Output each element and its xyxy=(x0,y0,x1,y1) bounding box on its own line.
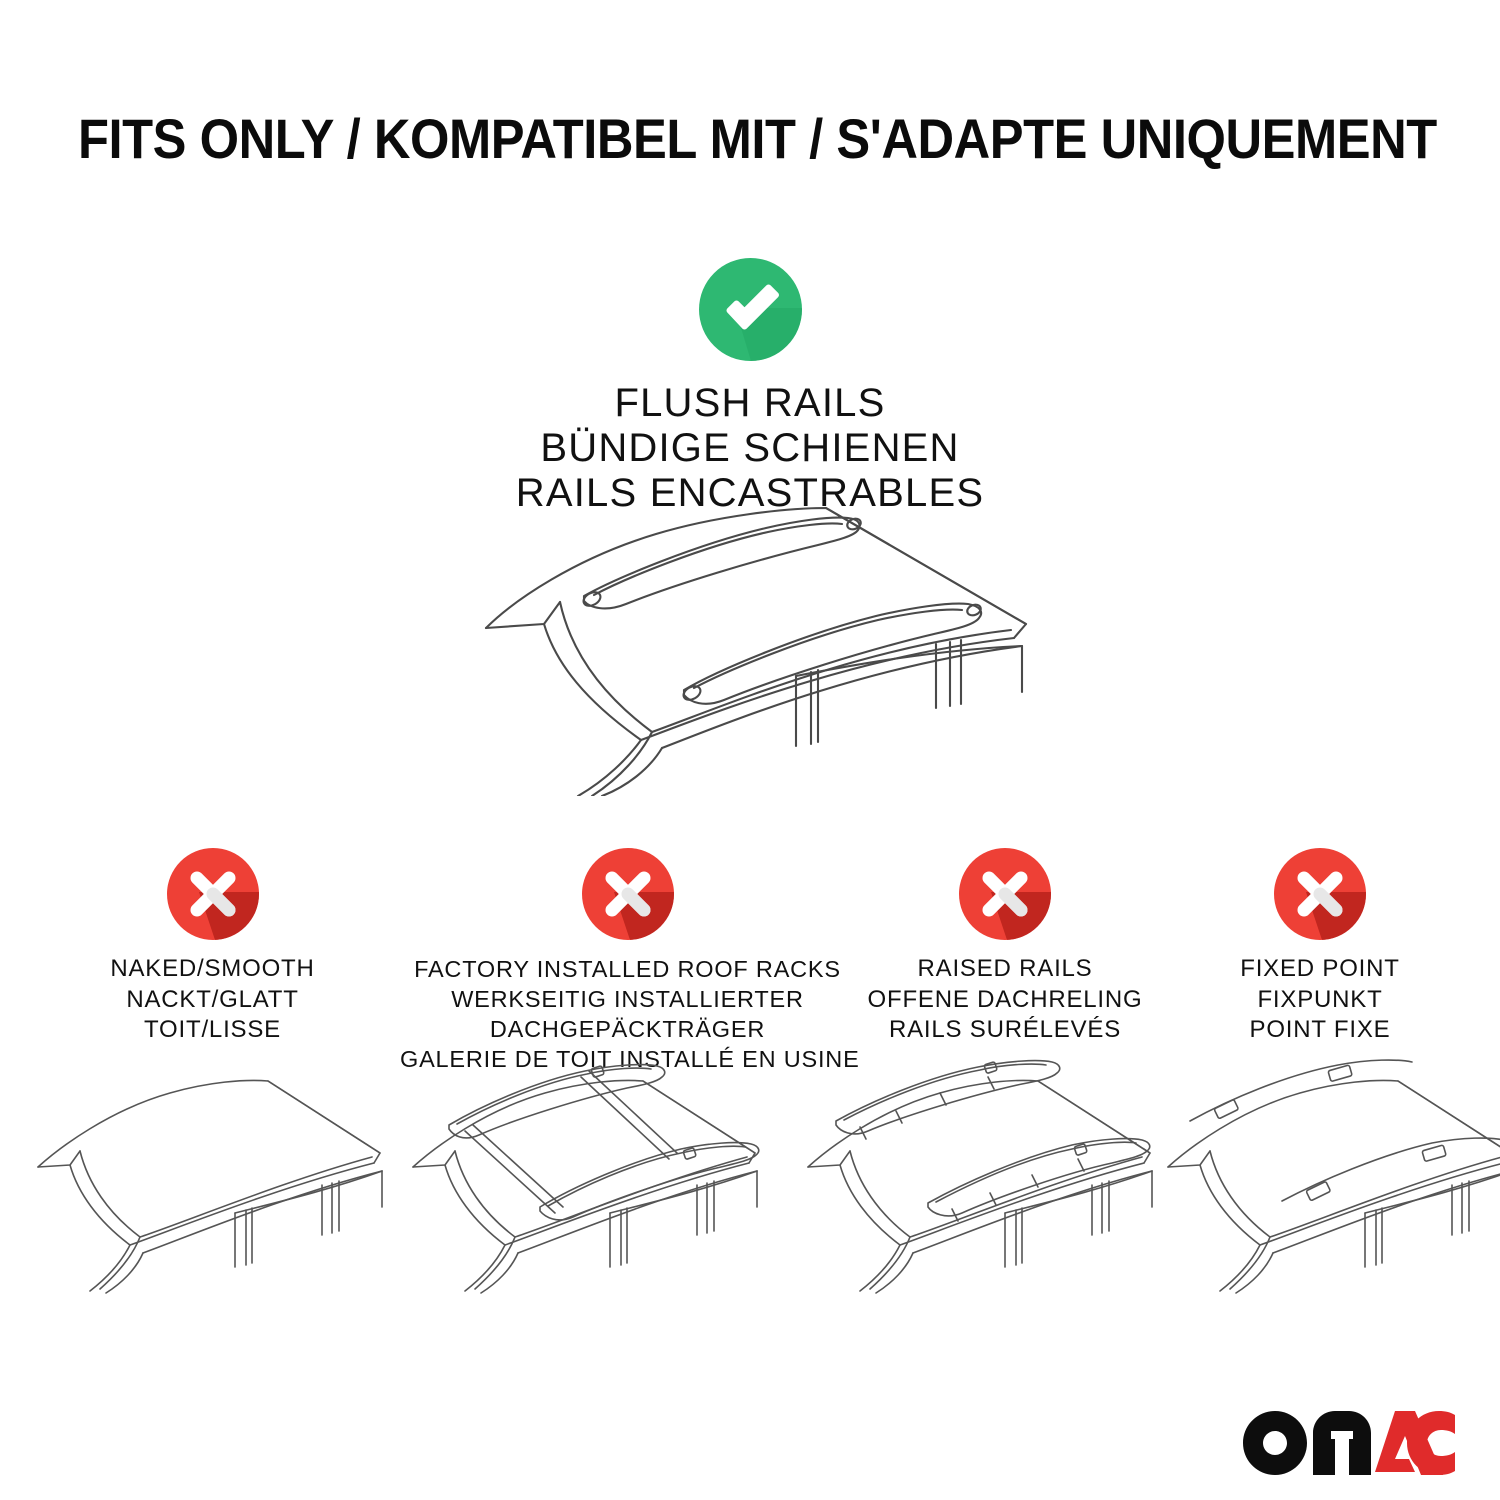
check-circle-icon xyxy=(699,258,802,361)
car-roof-flush-rails-illustration xyxy=(466,496,1056,796)
x-circle-icon xyxy=(582,848,674,940)
incompatible-item-naked-smooth: NAKED/SMOOTH NACKT/GLATT TOIT/LISSE xyxy=(40,848,385,1046)
incompatible-item-factory-roof-racks: FACTORY INSTALLED ROOF RACKS WERKSEITIG … xyxy=(400,848,855,1074)
label-en: FIXED POINT xyxy=(1175,954,1465,985)
incompatible-labels: NAKED/SMOOTH NACKT/GLATT TOIT/LISSE xyxy=(40,954,385,1046)
car-roof-naked-illustration xyxy=(30,1055,415,1295)
label-en: FACTORY INSTALLED ROOF RACKS xyxy=(400,954,855,984)
incompatible-labels: FIXED POINT FIXPUNKT POINT FIXE xyxy=(1175,954,1465,1046)
label-en: NAKED/SMOOTH xyxy=(40,954,385,985)
label-fr: RAILS SURÉLEVÉS xyxy=(845,1015,1165,1046)
header-banner: FITS ONLY / KOMPATIBEL MIT / S'ADAPTE UN… xyxy=(78,104,1428,174)
car-roof-factory-racks-illustration xyxy=(405,1055,790,1295)
logo-letter-m xyxy=(1313,1411,1371,1475)
roof-illustrations-row xyxy=(0,1055,1500,1295)
label-fr: POINT FIXE xyxy=(1175,1015,1465,1046)
label-en: RAISED RAILS xyxy=(845,954,1165,985)
incompatible-item-fixed-point: FIXED POINT FIXPUNKT POINT FIXE xyxy=(1175,848,1465,1046)
omac-logo xyxy=(1243,1411,1455,1475)
car-roof-fixed-point-illustration xyxy=(1160,1055,1500,1295)
label-de-line2: DACHGEPÄCKTRÄGER xyxy=(400,1014,855,1044)
label-de-line1: WERKSEITIG INSTALLIERTER xyxy=(400,984,855,1014)
x-circle-icon xyxy=(167,848,259,940)
x-circle-icon xyxy=(959,848,1051,940)
label-de: OFFENE DACHRELING xyxy=(845,985,1165,1016)
car-roof-raised-rails-illustration xyxy=(800,1055,1185,1295)
label-de: NACKT/GLATT xyxy=(40,985,385,1016)
label-de: FIXPUNKT xyxy=(1175,985,1465,1016)
incompatible-labels: RAISED RAILS OFFENE DACHRELING RAILS SUR… xyxy=(845,954,1165,1046)
incompatible-item-raised-rails: RAISED RAILS OFFENE DACHRELING RAILS SUR… xyxy=(845,848,1165,1046)
compatible-label-en: FLUSH RAILS xyxy=(516,381,984,426)
page-title: FITS ONLY / KOMPATIBEL MIT / S'ADAPTE UN… xyxy=(78,111,1437,167)
x-circle-icon xyxy=(1274,848,1366,940)
compatible-section: FLUSH RAILS BÜNDIGE SCHIENEN RAILS ENCAS… xyxy=(0,258,1500,517)
compatible-label-de: BÜNDIGE SCHIENEN xyxy=(516,426,984,471)
label-fr: TOIT/LISSE xyxy=(40,1015,385,1046)
logo-letter-o xyxy=(1243,1411,1307,1475)
